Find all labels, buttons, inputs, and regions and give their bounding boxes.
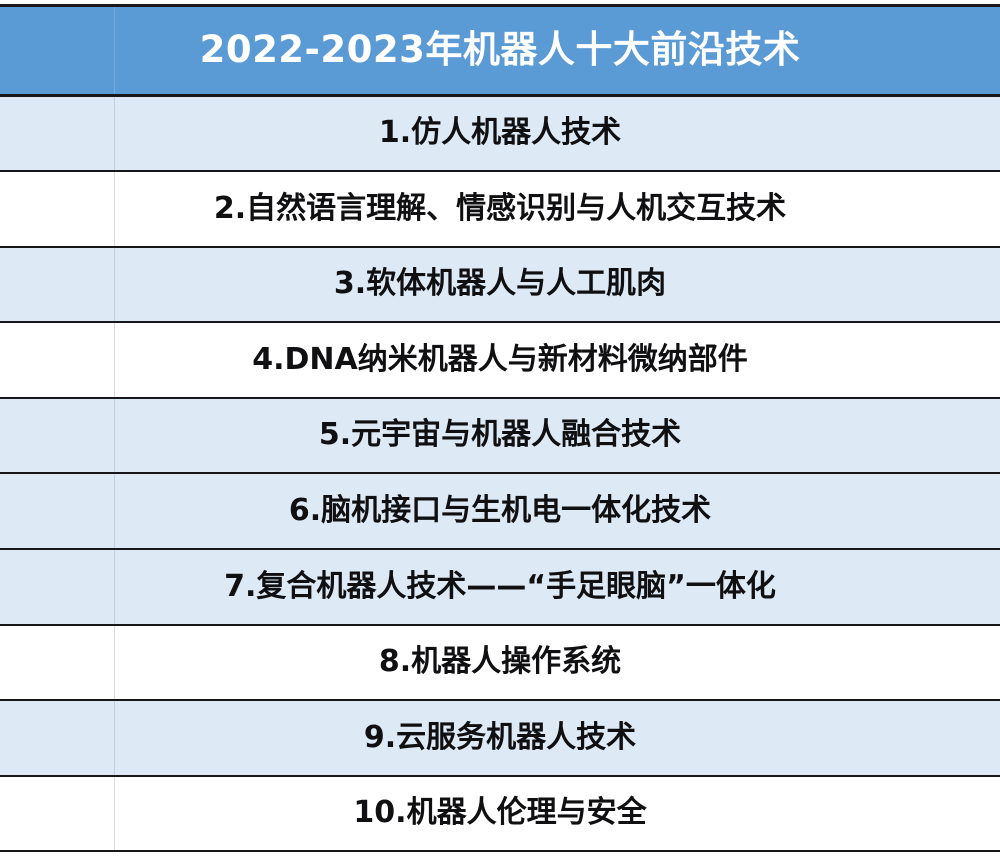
technology-label-5: 5.元宇宙与机器人融合技术 xyxy=(319,418,681,453)
technology-label-2: 2.自然语言理解、情感识别与人机交互技术 xyxy=(214,192,786,227)
technology-label-7: 7.复合机器人技术——“手足眼脑”一体化 xyxy=(224,570,776,605)
technology-label-9: 9.云服务机器人技术 xyxy=(364,721,636,756)
table-row[interactable]: 6.脑机接口与生机电一体化技术 xyxy=(0,473,1000,549)
table-row[interactable]: 1.仿人机器人技术 xyxy=(0,96,1000,172)
table-row[interactable]: 2.自然语言理解、情感识别与人机交互技术 xyxy=(0,171,1000,247)
page-title: 2022-2023年机器人十大前沿技术 xyxy=(200,29,801,72)
technology-cell-8[interactable]: 8.机器人操作系统 xyxy=(0,625,1000,701)
technology-label-6: 6.脑机接口与生机电一体化技术 xyxy=(289,494,711,529)
table-row[interactable]: 10.机器人伦理与安全 xyxy=(0,776,1000,852)
technology-cell-5[interactable]: 5.元宇宙与机器人融合技术 xyxy=(0,398,1000,474)
technology-cell-1[interactable]: 1.仿人机器人技术 xyxy=(0,96,1000,172)
technology-cell-9[interactable]: 9.云服务机器人技术 xyxy=(0,700,1000,776)
technology-cell-2[interactable]: 2.自然语言理解、情感识别与人机交互技术 xyxy=(0,171,1000,247)
technology-label-3: 3.软体机器人与人工肌肉 xyxy=(334,267,666,302)
table-row[interactable]: 4.DNA纳米机器人与新材料微纳部件 xyxy=(0,322,1000,398)
technology-label-10: 10.机器人伦理与安全 xyxy=(353,796,646,831)
table-header-row: 2022-2023年机器人十大前沿技术 xyxy=(0,6,1000,96)
top-technologies-table: 2022-2023年机器人十大前沿技术 1.仿人机器人技术 2.自然语言理解、情… xyxy=(0,4,1000,852)
technology-cell-6[interactable]: 6.脑机接口与生机电一体化技术 xyxy=(0,473,1000,549)
table-row[interactable]: 3.软体机器人与人工肌肉 xyxy=(0,247,1000,323)
table-body: 2022-2023年机器人十大前沿技术 1.仿人机器人技术 2.自然语言理解、情… xyxy=(0,6,1000,852)
table-title-cell: 2022-2023年机器人十大前沿技术 xyxy=(0,6,1000,96)
top-technologies-table-container: 2022-2023年机器人十大前沿技术 1.仿人机器人技术 2.自然语言理解、情… xyxy=(0,4,1000,852)
technology-cell-10[interactable]: 10.机器人伦理与安全 xyxy=(0,776,1000,852)
technology-cell-3[interactable]: 3.软体机器人与人工肌肉 xyxy=(0,247,1000,323)
table-row[interactable]: 9.云服务机器人技术 xyxy=(0,700,1000,776)
technology-label-4: 4.DNA纳米机器人与新材料微纳部件 xyxy=(252,343,748,378)
technology-cell-4[interactable]: 4.DNA纳米机器人与新材料微纳部件 xyxy=(0,322,1000,398)
table-row[interactable]: 8.机器人操作系统 xyxy=(0,625,1000,701)
technology-label-8: 8.机器人操作系统 xyxy=(379,645,621,680)
technology-label-1: 1.仿人机器人技术 xyxy=(379,116,621,151)
technology-cell-7[interactable]: 7.复合机器人技术——“手足眼脑”一体化 xyxy=(0,549,1000,625)
table-row[interactable]: 5.元宇宙与机器人融合技术 xyxy=(0,398,1000,474)
table-row[interactable]: 7.复合机器人技术——“手足眼脑”一体化 xyxy=(0,549,1000,625)
